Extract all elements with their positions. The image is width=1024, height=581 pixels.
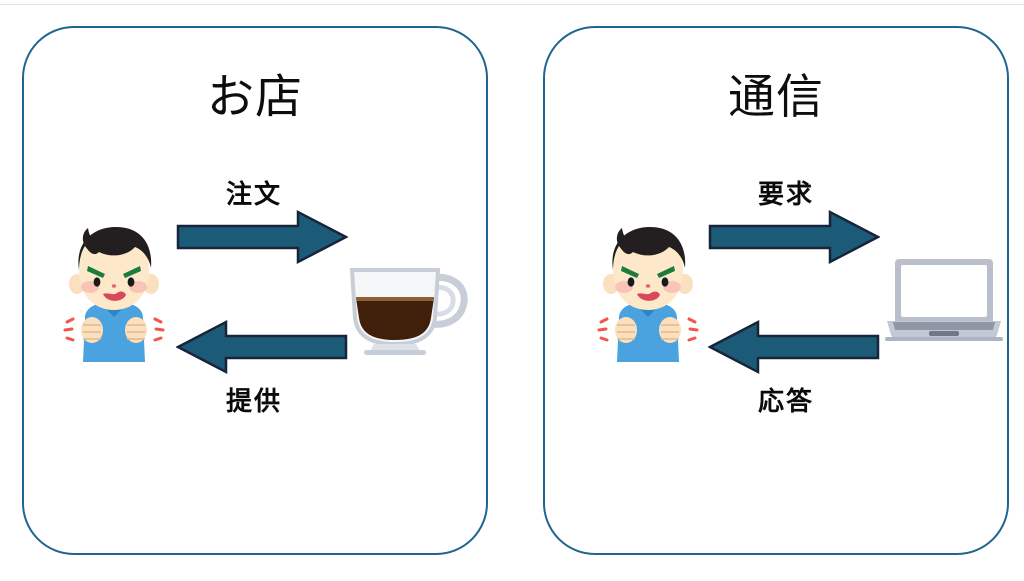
flow-label-order: 注文 — [154, 174, 354, 211]
flow-label-request: 要求 — [686, 174, 886, 211]
flow-arrow-request-right — [708, 208, 880, 266]
flow-arrow-serve-left — [176, 318, 348, 376]
person-client-communication — [589, 222, 707, 362]
panel-shop-title: お店 — [24, 72, 486, 124]
slide-canvas: お店 — [0, 0, 1024, 581]
top-divider-line — [0, 4, 1024, 5]
flow-arrow-order-right — [176, 208, 348, 266]
flow-label-serve: 提供 — [154, 381, 354, 418]
panel-communication-title: 通信 — [545, 72, 1007, 124]
laptop-graphic — [885, 255, 1003, 343]
coffee-cup-graphic — [338, 252, 468, 356]
flow-arrow-response-left — [708, 318, 880, 376]
flow-label-response: 応答 — [686, 381, 886, 418]
person-customer-shop — [55, 222, 173, 362]
